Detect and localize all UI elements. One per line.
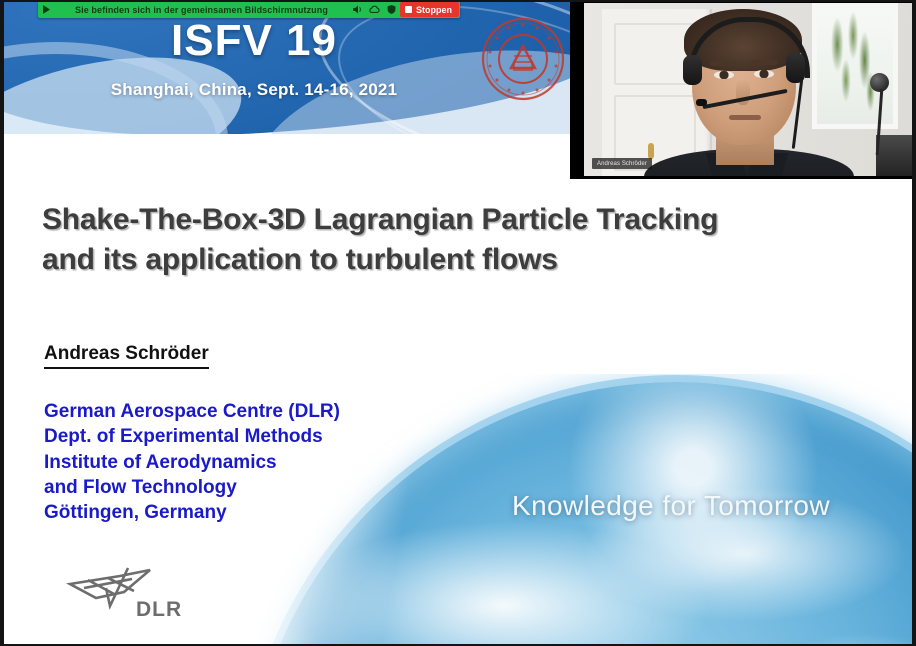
lamp-arm xyxy=(876,89,884,155)
participant-name-label: Andreas Schröder xyxy=(592,158,652,169)
stop-share-button[interactable]: Stoppen xyxy=(400,2,459,17)
desk-lamp xyxy=(862,73,898,173)
speaker-video-tile[interactable]: Andreas Schröder xyxy=(570,0,916,179)
cloud-icon[interactable] xyxy=(366,1,383,18)
dlr-logo-text: DLR xyxy=(136,598,182,621)
affiliation-line-2: Dept. of Experimental Methods xyxy=(44,424,340,449)
slide-title-line-1: Shake-The-Box-3D Lagrangian Particle Tra… xyxy=(42,200,892,240)
affiliation-block: German Aerospace Centre (DLR) Dept. of E… xyxy=(44,399,340,525)
headset-microphone xyxy=(696,99,707,106)
zoom-share-icon xyxy=(38,4,54,15)
conference-name: ISFV 19 xyxy=(4,16,504,66)
window-edge-right xyxy=(912,0,916,646)
shield-icon[interactable] xyxy=(383,1,400,18)
affiliation-line-1: German Aerospace Centre (DLR) xyxy=(44,399,340,424)
university-seal-icon xyxy=(480,16,566,102)
screenshare-status-message: Sie befinden sich in der gemeinsamen Bil… xyxy=(54,5,349,15)
affiliation-line-5: Göttingen, Germany xyxy=(44,500,340,525)
mouth xyxy=(729,115,761,120)
zoom-screenshare-toolbar[interactable]: Sie befinden sich in der gemeinsamen Bil… xyxy=(38,1,460,18)
webcam-video-feed: Andreas Schröder xyxy=(584,3,916,176)
slide-title-line-2: and its application to turbulent flows xyxy=(42,240,892,280)
author-name: Andreas Schröder xyxy=(44,343,209,369)
affiliation-line-3: Institute of Aerodynamics xyxy=(44,450,340,475)
slide-title: Shake-The-Box-3D Lagrangian Particle Tra… xyxy=(42,200,892,279)
stop-square-icon xyxy=(405,6,412,13)
speaker-icon[interactable] xyxy=(349,1,366,18)
conference-location: Shanghai, China, Sept. 14-16, 2021 xyxy=(4,80,504,100)
window-edge-left xyxy=(0,0,4,646)
dlr-tagline: Knowledge for Tomorrow xyxy=(512,490,830,522)
headset-earcup-left xyxy=(683,55,702,85)
stop-share-label: Stoppen xyxy=(416,5,452,15)
zoom-shared-screen-window: ISFV 19 Shanghai, China, Sept. 14-16, 20… xyxy=(0,0,916,646)
window-edge-top xyxy=(0,0,916,2)
dlr-logo: DLR xyxy=(66,558,196,624)
affiliation-line-4: and Flow Technology xyxy=(44,475,340,500)
door-handle xyxy=(648,143,654,159)
